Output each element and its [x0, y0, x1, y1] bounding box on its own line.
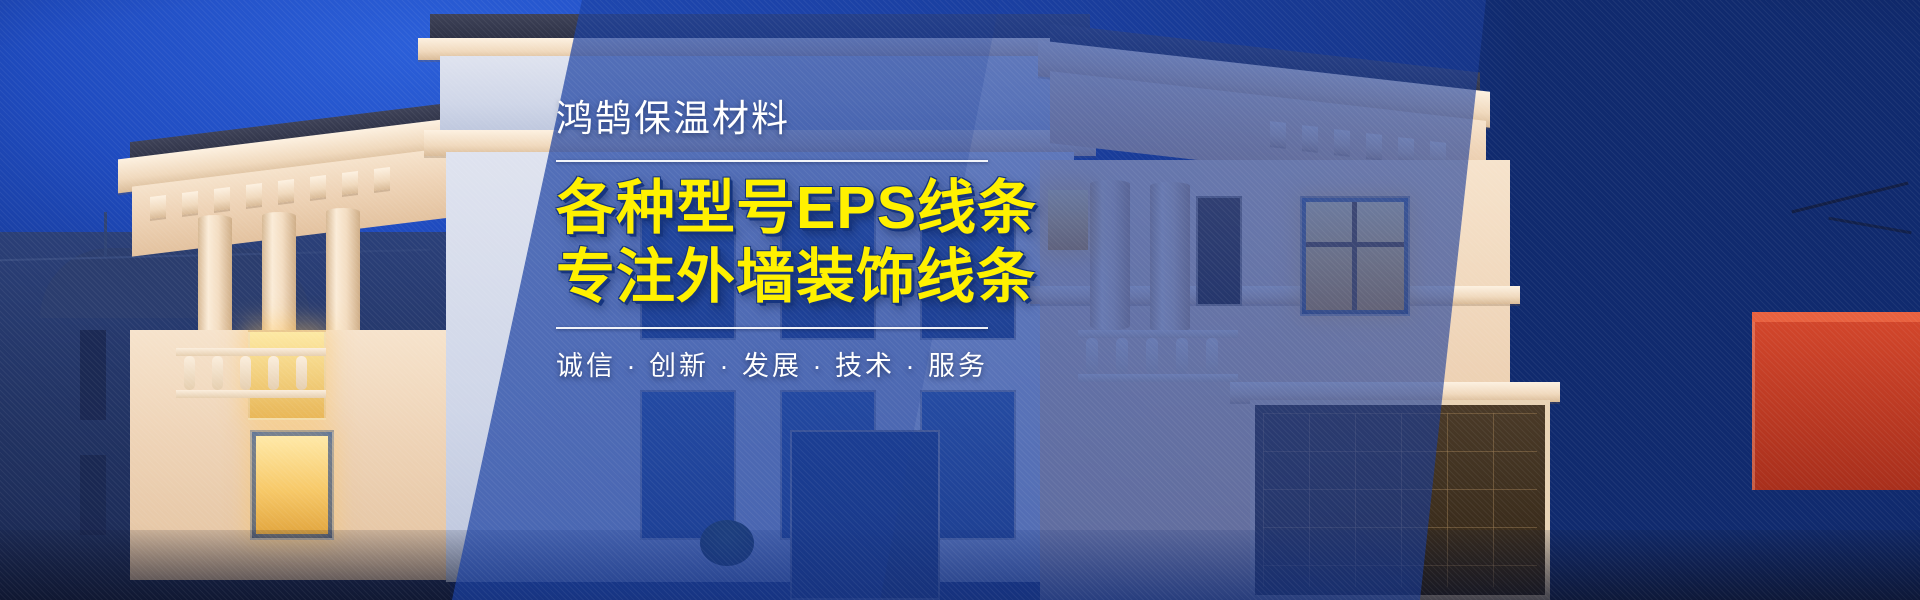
window — [640, 390, 736, 540]
divider-top — [556, 160, 988, 162]
baluster — [1086, 338, 1098, 374]
garage-lintel — [1230, 382, 1560, 402]
column — [1150, 182, 1190, 332]
dentil — [374, 167, 390, 191]
dentil — [310, 175, 326, 199]
balustrade-base — [1078, 374, 1238, 382]
brand-name: 鸿鹄保温材料 — [556, 96, 1026, 142]
red-structure-top — [1752, 312, 1920, 322]
tagline: 诚信 · 创新 · 发展 · 技术 · 服务 — [556, 349, 1026, 384]
distant-window — [80, 330, 106, 420]
dentil — [1302, 125, 1318, 151]
dentil — [150, 195, 166, 219]
baluster — [1116, 338, 1128, 374]
dentil — [342, 171, 358, 195]
window-frame — [248, 330, 326, 420]
baluster — [240, 356, 251, 390]
column — [1090, 180, 1130, 330]
baluster — [1146, 338, 1158, 374]
red-structure — [1752, 312, 1920, 490]
lit-window — [256, 436, 328, 534]
baluster — [184, 356, 195, 390]
dentil — [182, 191, 198, 215]
headline-line-1: 各种型号EPS线条 — [556, 174, 1026, 242]
dentil — [246, 183, 262, 207]
window-transom — [1306, 242, 1404, 247]
balustrade-base — [176, 390, 326, 398]
dentil — [214, 187, 230, 211]
dentil — [1270, 121, 1286, 147]
dentil — [1366, 133, 1382, 159]
divider-bottom — [556, 327, 988, 329]
distant-window — [80, 455, 106, 535]
baluster — [296, 356, 307, 390]
baluster — [1206, 338, 1218, 374]
baluster — [268, 356, 279, 390]
headline-line-2: 专注外墙装饰线条 — [556, 243, 1026, 311]
antenna-mast — [104, 212, 107, 256]
balustrade-rail — [1078, 330, 1238, 338]
ground-shadow — [0, 530, 1920, 600]
recess-door — [1196, 196, 1242, 306]
hero-banner: 鸿鹄保温材料 各种型号EPS线条 专注外墙装饰线条 诚信 · 创新 · 发展 ·… — [0, 0, 1920, 600]
lit-recess — [1048, 190, 1088, 250]
dentil — [1334, 129, 1350, 155]
baluster — [1176, 338, 1188, 374]
dentil — [278, 179, 294, 203]
column — [326, 208, 360, 350]
window-mullion — [1352, 202, 1357, 310]
baluster — [212, 356, 223, 390]
banner-text-block: 鸿鹄保温材料 各种型号EPS线条 专注外墙装饰线条 诚信 · 创新 · 发展 ·… — [556, 96, 1026, 384]
balustrade-rail — [176, 348, 326, 356]
